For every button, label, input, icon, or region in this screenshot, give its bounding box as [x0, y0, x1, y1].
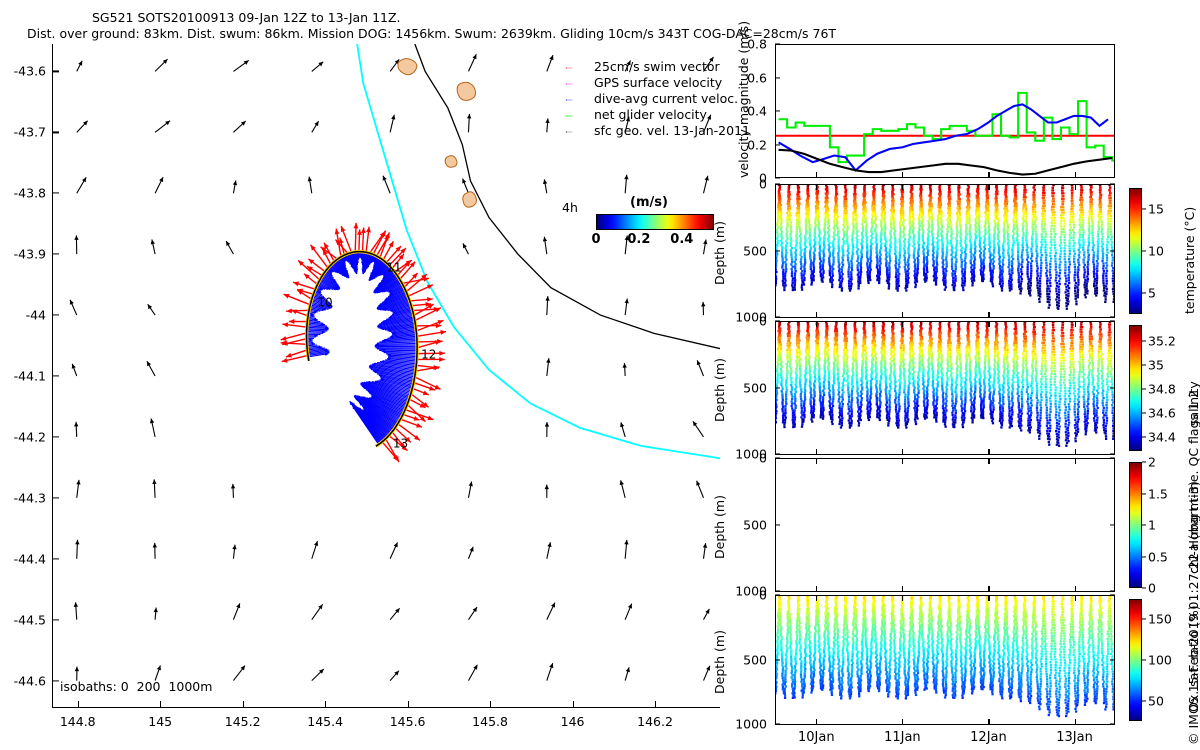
chla-depth-tick [775, 457, 780, 458]
temperature-panel[interactable] [775, 184, 1115, 318]
salinity-cbar-tick-label: 34.4 [1148, 429, 1176, 444]
temperature-time-tick [902, 312, 903, 318]
chla-cbar-tick [1142, 524, 1146, 525]
chla-cbar-tick [1142, 587, 1146, 588]
chla-time-tick-top [1075, 458, 1076, 464]
chla-time-tick-top [988, 458, 989, 464]
temperature-time-tick-top [816, 184, 817, 190]
temperature-depth-tick-label: 500 [743, 244, 767, 259]
salinity-panel[interactable] [775, 321, 1115, 455]
legend-item-dive-avg-current: dive-avg current veloc. [548, 92, 716, 108]
gps-surface-velocity-icon [548, 83, 590, 85]
chla-depth-tick [775, 590, 780, 591]
velocity-x-tick [1075, 172, 1076, 178]
oxygen-depth-tick-right [1110, 723, 1115, 724]
temperature-colorbar [1129, 188, 1142, 314]
legend-label: 25cm/s swim vector [594, 59, 720, 74]
chla-time-tick [988, 586, 989, 592]
temperature-depth-tick [775, 183, 780, 184]
map-y-tick-label: -44 [26, 308, 46, 323]
salinity-scatter [776, 322, 1114, 447]
temperature-cbar-tick [1142, 208, 1146, 209]
legend-units-label: (m/s) [630, 195, 668, 210]
chla-cbar-tick-label: 1.5 [1148, 486, 1168, 501]
dive-avg-current-series [779, 104, 1108, 170]
oxygen-depth-tick-label: 1000 [735, 717, 767, 732]
chla-time-tick-top [902, 458, 903, 464]
map-legend: 25cm/s swim vector GPS surface velocity … [548, 60, 716, 140]
map-y-tick-label: -43.6 [14, 64, 46, 79]
chla-panel[interactable] [775, 458, 1115, 592]
map-x-tick-label: 146 [561, 714, 585, 729]
temperature-colorbar-title: temperature (°C) [1182, 207, 1197, 314]
legend-item-net-glider-velocity: net glider velocity [548, 108, 716, 124]
velocity-y-tick [775, 177, 780, 178]
map-y-tick-label: -43.9 [14, 247, 46, 262]
oxygen-depth-tick-right [1110, 659, 1115, 660]
chla-depth-tick-label: 0 [759, 451, 767, 466]
oxygen-cbar-tick-label: 150 [1148, 612, 1172, 627]
oxygen-panel[interactable] [775, 595, 1115, 725]
net-glider-velocity-series [779, 93, 1114, 162]
temperature-depth-tick [775, 250, 780, 251]
salinity-cbar-tick [1142, 388, 1146, 389]
map-x-tick-label: 145.8 [472, 714, 508, 729]
oxygen-cbar-tick [1142, 659, 1146, 660]
chla-cbar-tick [1142, 556, 1146, 557]
chla-depth-tick-right [1110, 590, 1115, 591]
chla-time-tick [902, 586, 903, 592]
oxygen-cbar-tick [1142, 700, 1146, 701]
chla-cbar-tick-label: 2 [1148, 455, 1156, 470]
map-y-tick-label: -44.3 [14, 490, 46, 505]
chla-depth-tick [775, 524, 780, 525]
salinity-cbar-tick [1142, 412, 1146, 413]
map-x-tick-label: 144.8 [60, 714, 96, 729]
legend-label: net glider velocity [594, 107, 707, 122]
velocity-y-axis-title: velocity magnitude (m/s) [736, 21, 751, 178]
map-overlay: 10111213 [52, 44, 720, 708]
map-y-tick-label: -43.8 [14, 186, 46, 201]
svg-text:13: 13 [393, 436, 408, 450]
sfc-geo-velocity-series [779, 150, 1113, 175]
oxygen-time-tick-top [902, 595, 903, 601]
temperature-time-tick [1075, 312, 1076, 318]
map-y-tick-label: -44.5 [14, 612, 46, 627]
isobath-label: isobaths: 0 200 1000m [60, 679, 212, 694]
chla-colorbar [1129, 462, 1142, 588]
salinity-time-tick-top [1075, 321, 1076, 327]
map-y-tick-label: -44.2 [14, 429, 46, 444]
salinity-cbar-tick-label: 34.8 [1148, 381, 1176, 396]
salinity-cbar-tick-label: 35.2 [1148, 333, 1176, 348]
temperature-cbar-tick-label: 15 [1148, 202, 1164, 217]
svg-text:12: 12 [421, 347, 436, 361]
legend-item-gps-surface-velocity: GPS surface velocity [548, 76, 716, 92]
legend-scale-label: 4h [562, 200, 578, 215]
salinity-depth-axis-title: Depth (m) [712, 358, 727, 422]
salinity-section-chart [776, 322, 1114, 454]
legend-colorbar-tick-label: 0 [591, 232, 600, 247]
salinity-depth-tick [775, 387, 780, 388]
chla-cbar-tick-label: 0.5 [1148, 549, 1168, 564]
salinity-cbar-tick [1142, 364, 1146, 365]
salinity-depth-tick-right [1110, 387, 1115, 388]
salinity-time-tick [988, 449, 989, 455]
oxygen-time-tick-top [1075, 595, 1076, 601]
oxygen-section-chart [776, 596, 1114, 724]
oxygen-depth-tick [775, 594, 780, 595]
chla-depth-tick-right [1110, 457, 1115, 458]
svg-text:11: 11 [386, 261, 401, 275]
salinity-time-tick [902, 449, 903, 455]
dive-avg-current-icon [548, 99, 590, 101]
oxygen-depth-tick-label: 500 [743, 653, 767, 668]
legend-label: dive-avg current veloc. [594, 91, 738, 106]
salinity-time-tick-top [902, 321, 903, 327]
velocity-y-tick [775, 43, 780, 44]
temperature-cbar-tick [1142, 292, 1146, 293]
map-x-tick-label: 145.2 [225, 714, 261, 729]
swim-vector-icon [548, 67, 590, 69]
oxygen-time-tick-top [816, 595, 817, 601]
time-axis-label: 12Jan [970, 730, 1007, 745]
map-y-tick-label: -44.6 [14, 673, 46, 688]
salinity-depth-tick-right [1110, 453, 1115, 454]
salinity-cbar-tick [1142, 340, 1146, 341]
map-x-tick-label: 146.2 [637, 714, 673, 729]
chla-depth-axis-title: Depth (m) [712, 495, 727, 559]
legend-colorbar-tick-label: 0.4 [670, 232, 693, 247]
legend-label: GPS surface velocity [594, 75, 722, 90]
legend-colorbar-tick-label: 0.2 [627, 232, 650, 247]
salinity-depth-tick-right [1110, 320, 1115, 321]
oxygen-colorbar [1129, 599, 1142, 721]
oxygen-depth-tick-label: 0 [759, 588, 767, 603]
chla-time-tick [1075, 586, 1076, 592]
temperature-time-tick-top [988, 184, 989, 190]
map-x-tick-label: 145.4 [307, 714, 343, 729]
velocity-x-tick [902, 172, 903, 178]
salinity-time-tick-top [988, 321, 989, 327]
velocity-x-tick [816, 172, 817, 178]
map-y-tick-label: -44.4 [14, 551, 46, 566]
time-axis-label: 10Jan [798, 730, 835, 745]
temperature-cbar-tick [1142, 250, 1146, 251]
velocity-y-tick [775, 110, 780, 111]
salinity-time-tick [816, 449, 817, 455]
oxygen-time-tick-top [988, 595, 989, 601]
salinity-depth-tick [775, 320, 780, 321]
legend-label: sfc geo. vel. 13-Jan-2011 [594, 123, 750, 138]
map-y-tick-label: -43.7 [14, 125, 46, 140]
velocity-x-tick [988, 172, 989, 178]
svg-text:10: 10 [317, 295, 332, 309]
oxygen-cbar-tick-label: 100 [1148, 653, 1172, 668]
oxygen-cbar-tick [1142, 619, 1146, 620]
page-subtitle: Dist. over ground: 83km. Dist. swum: 86k… [27, 26, 836, 41]
temperature-depth-tick [775, 316, 780, 317]
chla-section-chart [776, 459, 1114, 591]
temperature-depth-tick-right [1110, 183, 1115, 184]
temperature-section-chart [776, 185, 1114, 317]
temperature-depth-axis-title: Depth (m) [712, 221, 727, 285]
oxygen-depth-tick [775, 659, 780, 660]
salinity-cbar-tick [1142, 436, 1146, 437]
temperature-scatter [776, 185, 1114, 310]
chla-cbar-tick [1142, 461, 1146, 462]
temperature-time-tick-top [902, 184, 903, 190]
temperature-time-tick-top [1075, 184, 1076, 190]
chla-time-tick [816, 586, 817, 592]
oxygen-depth-tick [775, 723, 780, 724]
salinity-depth-tick-label: 0 [759, 314, 767, 329]
oxygen-time-tick [988, 719, 989, 725]
temperature-depth-tick-right [1110, 250, 1115, 251]
oxygen-time-tick [1075, 719, 1076, 725]
chla-cbar-tick-label: 0 [1148, 581, 1156, 596]
chla-cbar-tick [1142, 493, 1146, 494]
temperature-time-tick [988, 312, 989, 318]
chla-depth-tick-right [1110, 524, 1115, 525]
legend-item-swim-vector: 25cm/s swim vector [548, 60, 716, 76]
temperature-cbar-tick-label: 10 [1148, 244, 1164, 259]
velocity-magnitude-chart [776, 45, 1114, 177]
oxygen-cbar-tick-label: 50 [1148, 693, 1164, 708]
salinity-cbar-tick-label: 35 [1148, 357, 1164, 372]
salinity-time-tick-top [816, 321, 817, 327]
salinity-time-tick [1075, 449, 1076, 455]
oxygen-time-tick [902, 719, 903, 725]
temperature-time-tick [816, 312, 817, 318]
temperature-depth-tick-right [1110, 316, 1115, 317]
map-y-tick-label: -44.1 [14, 369, 46, 384]
chla-cbar-tick-label: 1 [1148, 518, 1156, 533]
velocity-y-tick [775, 144, 780, 145]
oxygen-depth-axis-title: Depth (m) [712, 630, 727, 694]
salinity-depth-tick-label: 500 [743, 381, 767, 396]
salinity-cbar-tick-label: 34.6 [1148, 405, 1176, 420]
temperature-depth-tick-label: 0 [759, 177, 767, 192]
temperature-cbar-tick-label: 5 [1148, 286, 1156, 301]
velocity-magnitude-panel[interactable] [775, 44, 1115, 178]
legend-item-sfc-geo-velocity: sfc geo. vel. 13-Jan-2011 [548, 124, 716, 140]
oxygen-time-tick [816, 719, 817, 725]
velocity-y-tick [775, 77, 780, 78]
chla-depth-tick-label: 500 [743, 518, 767, 533]
copyright-text: © IMOS 15-Feb-2019 01:27:22 Hobart time.… [1186, 390, 1200, 745]
legend-colorbar [596, 214, 714, 230]
net-glider-velocity-icon [548, 115, 590, 117]
time-axis-label: 13Jan [1056, 730, 1093, 745]
oxygen-scatter [776, 596, 1114, 717]
time-axis-label: 11Jan [884, 730, 921, 745]
map-x-tick-label: 145.6 [390, 714, 426, 729]
sfc-geo-velocity-icon [548, 131, 590, 133]
oxygen-depth-tick-right [1110, 594, 1115, 595]
map-x-tick-label: 145 [148, 714, 172, 729]
salinity-colorbar [1129, 325, 1142, 451]
salinity-depth-tick [775, 453, 780, 454]
chla-time-tick-top [816, 458, 817, 464]
page-title: SG521 SOTS20100913 09-Jan 12Z to 13-Jan … [92, 10, 401, 25]
